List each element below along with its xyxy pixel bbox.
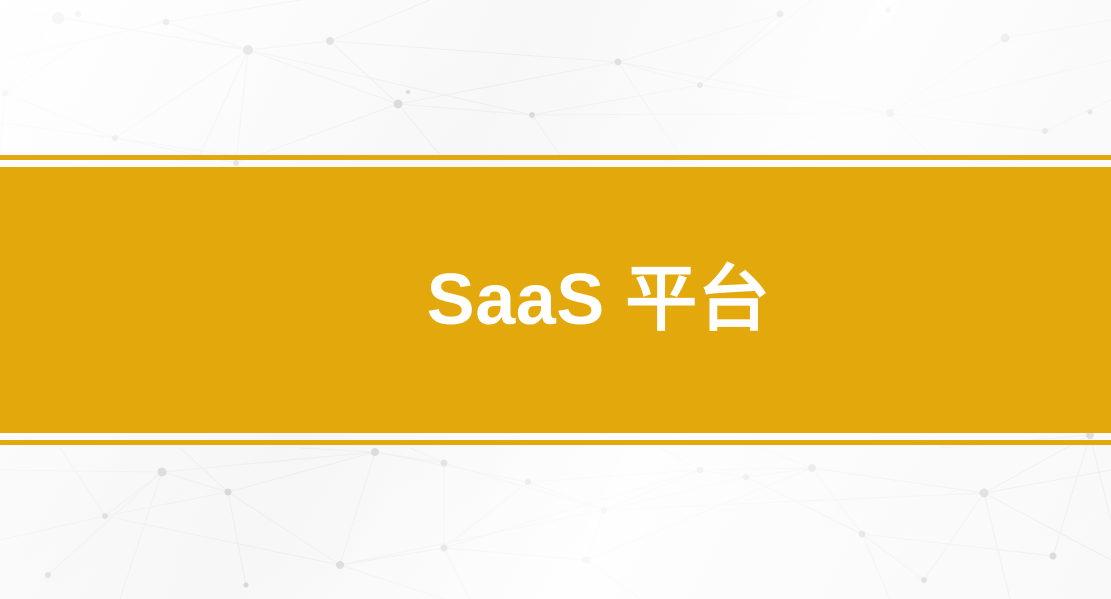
slide-title: SaaS 平台: [341, 264, 771, 336]
gold-title-band: SaaS 平台: [0, 167, 1111, 433]
presentation-slide: SaaS 平台: [0, 0, 1111, 599]
bottom-gold-rule: [0, 440, 1111, 445]
top-gold-rule: [0, 155, 1111, 160]
